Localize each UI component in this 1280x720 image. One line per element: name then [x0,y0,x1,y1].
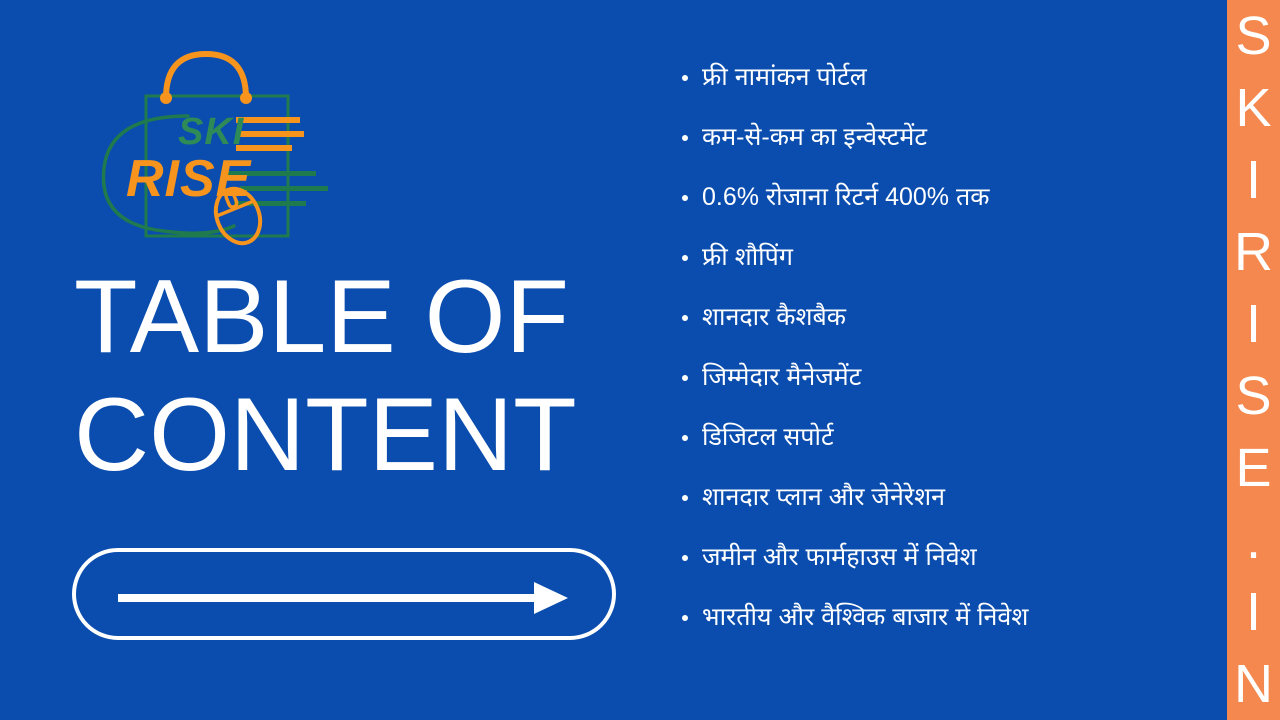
list-item[interactable]: शानदार कैशबैक [680,302,1220,332]
list-item[interactable]: फ्री नामांकन पोर्टल [680,62,1220,92]
sidebar-letter: . [1227,504,1280,576]
sidebar-letter: I [1227,144,1280,216]
slide-canvas: SKI RISE TABLE OF CONTENT फ्री नामांकन [0,0,1280,720]
sidebar-letter: N [1227,648,1280,720]
list-item[interactable]: डिजिटल सपोर्ट [680,422,1220,452]
list-item[interactable]: जमीन और फार्महाउस में निवेश [680,542,1220,572]
sidebar-letter: R [1227,216,1280,288]
speed-lines-orange-icon [236,117,304,151]
list-item[interactable]: कम-से-कम का इन्वेस्टमेंट [680,122,1220,152]
logo-text-ski: SKI [178,111,245,153]
brand-logo: SKI RISE [88,38,338,250]
sidebar-letter: K [1227,72,1280,144]
website-sidebar: S K I R I S E . I N [1227,0,1280,720]
sidebar-letter: E [1227,432,1280,504]
sidebar-letter: S [1227,360,1280,432]
list-item[interactable]: शानदार प्लान और जेनेरेशन [680,482,1220,512]
list-item[interactable]: जिम्मेदार मैनेजमेंट [680,362,1220,392]
left-column: SKI RISE TABLE OF CONTENT [0,0,660,720]
logo-text-rise: RISE [126,150,252,208]
list-item[interactable]: 0.6% रोजाना रिटर्न 400% तक [680,182,1220,212]
sidebar-letter: S [1227,0,1280,72]
next-section-button[interactable] [72,548,616,640]
long-right-arrow-icon [118,576,578,620]
sidebar-letter: I [1227,576,1280,648]
page-title: TABLE OF CONTENT [74,258,634,494]
list-item[interactable]: भारतीय और वैश्विक बाजार में निवेश [680,602,1220,632]
sidebar-letter: I [1227,288,1280,360]
table-of-contents-list: फ्री नामांकन पोर्टल कम-से-कम का इन्वेस्ट… [680,62,1220,662]
list-item[interactable]: फ्री शौपिंग [680,242,1220,272]
